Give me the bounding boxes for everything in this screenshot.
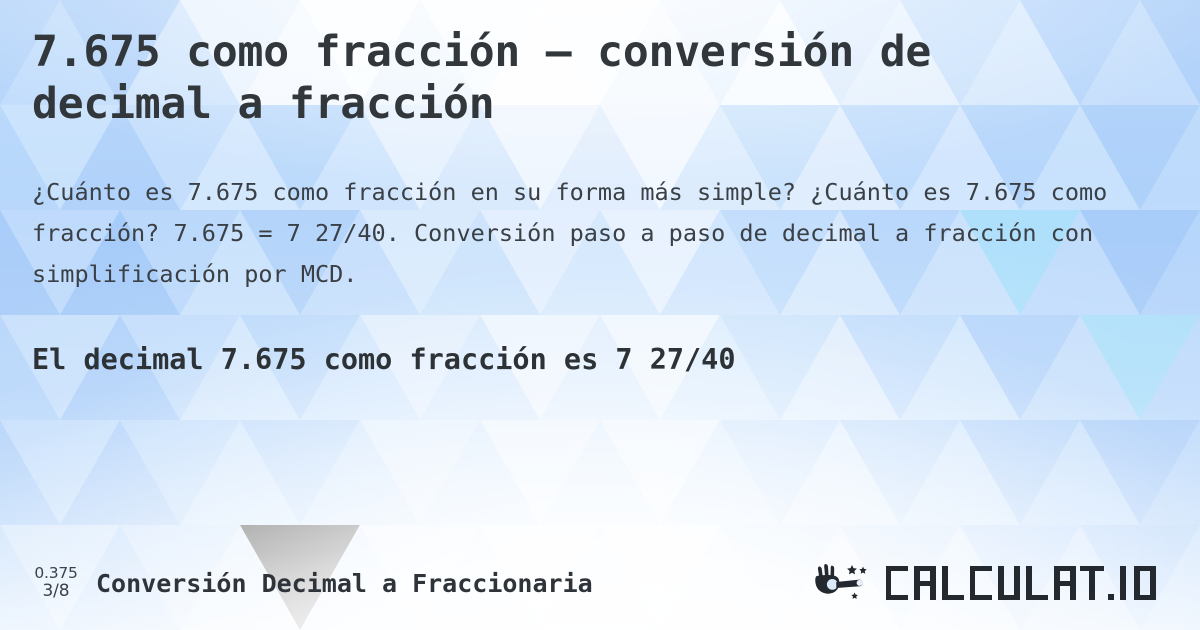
footer-left-group: 0.375 3/8 Conversión Decimal a Fracciona… <box>30 565 593 600</box>
brand-wordmark <box>884 562 1174 604</box>
result-statement: El decimal 7.675 como fracción es 7 27/4… <box>32 341 1162 378</box>
fraction-badge-icon: 0.375 3/8 <box>30 565 82 600</box>
card-content: 7.675 como fracción – conversión de deci… <box>0 0 1200 630</box>
hand-magic-wand-icon <box>812 561 878 605</box>
fraction-badge-decimal: 0.375 <box>34 565 77 582</box>
page-title: 7.675 como fracción – conversión de deci… <box>32 26 1122 130</box>
og-card: 7.675 como fracción – conversión de deci… <box>0 0 1200 630</box>
summary-text: ¿Cuánto es 7.675 como fracción en su for… <box>32 172 1162 295</box>
fraction-badge-fraction: 3/8 <box>42 582 69 600</box>
footer-bar: 0.375 3/8 Conversión Decimal a Fracciona… <box>0 556 1200 610</box>
brand-logo[interactable] <box>812 561 1174 605</box>
footer-category-label: Conversión Decimal a Fraccionaria <box>96 569 593 598</box>
